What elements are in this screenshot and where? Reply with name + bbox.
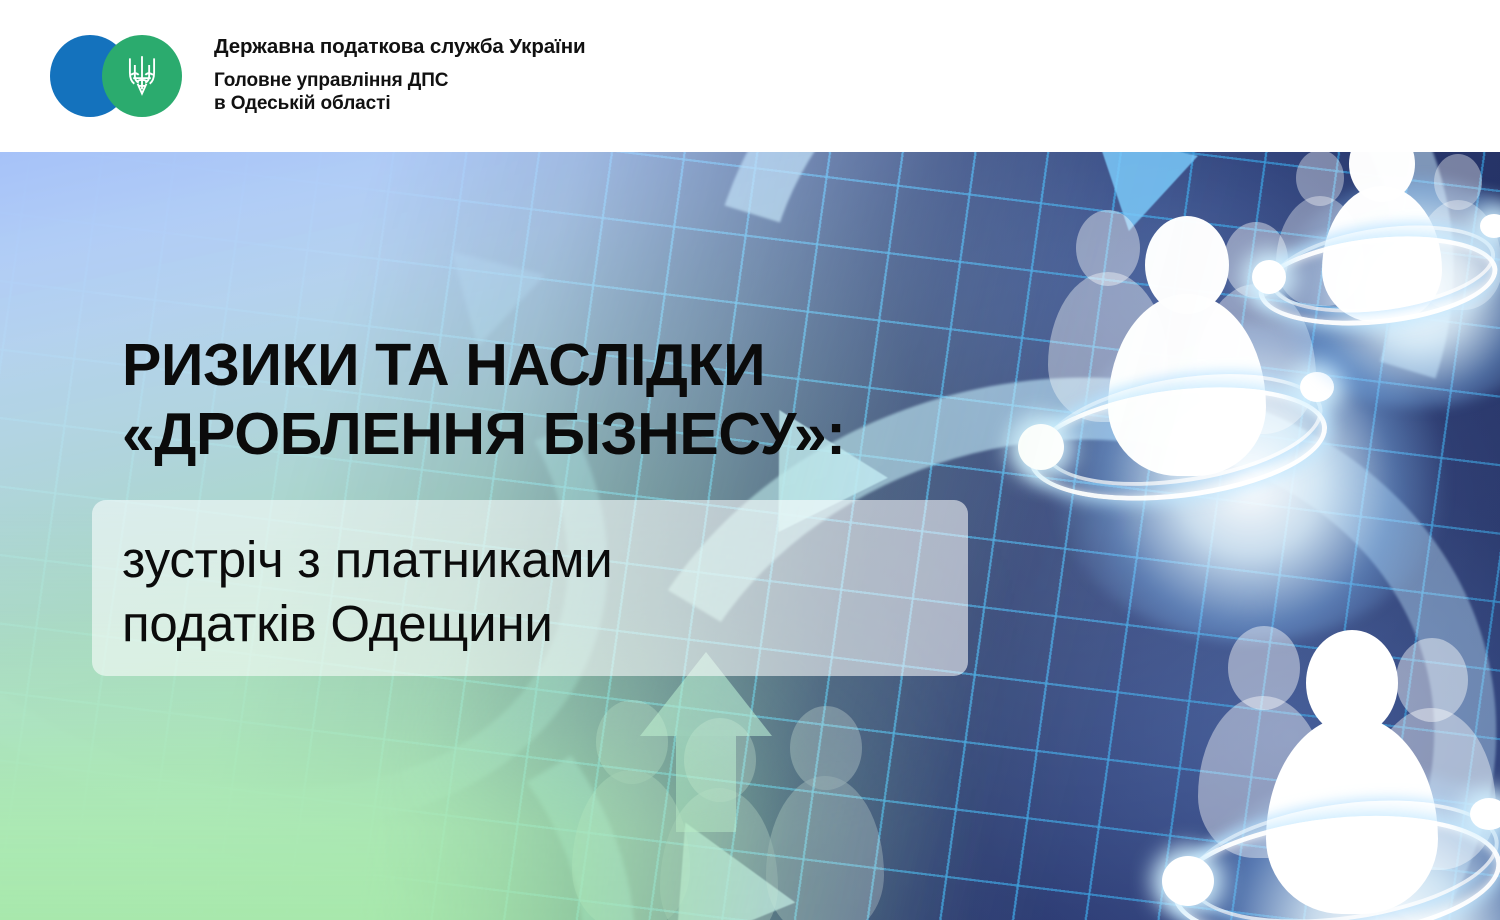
headline-line-1: РИЗИКИ ТА НАСЛІДКИ [122, 332, 1022, 399]
headline-line-2: «ДРОБЛЕННЯ БІЗНЕСУ»: [122, 401, 1022, 468]
ukraine-trident-icon [125, 54, 159, 98]
header-bar: Державна податкова служба України Головн… [0, 0, 1500, 152]
page-title: РИЗИКИ ТА НАСЛІДКИ «ДРОБЛЕННЯ БІЗНЕСУ»: [122, 332, 1022, 469]
agency-department: Головне управління ДПС в Одеській област… [214, 70, 586, 116]
agency-name-block: Державна податкова служба України Головн… [214, 36, 586, 116]
subtitle-line-2: податків Одещини [122, 592, 1022, 656]
agency-name: Державна податкова служба України [214, 36, 586, 59]
page-subtitle: зустріч з платниками податків Одещини [122, 528, 1022, 657]
agency-logo [50, 35, 200, 117]
subtitle-line-1: зустріч з платниками [122, 528, 1022, 592]
poster-root: РИЗИКИ ТА НАСЛІДКИ «ДРОБЛЕННЯ БІЗНЕСУ»: … [0, 0, 1500, 920]
logo-green-circle-icon [102, 35, 182, 117]
